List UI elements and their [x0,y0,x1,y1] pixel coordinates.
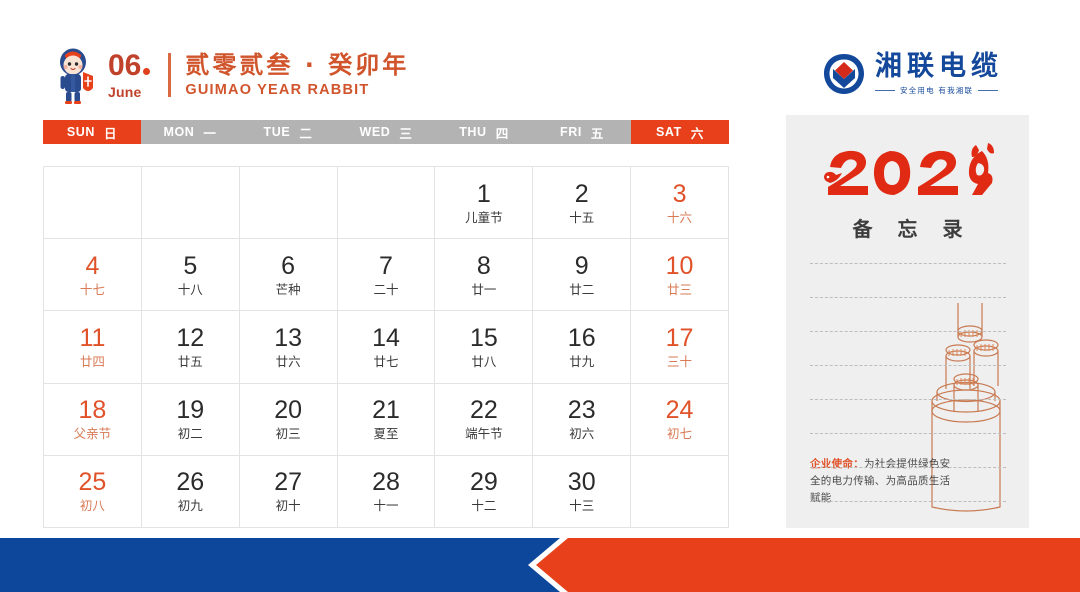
weekday-label-cn: 三 [399,123,412,142]
calendar-day-cell[interactable]: 22端午节 [435,384,533,456]
calendar-day-cell[interactable]: 5十八 [142,239,240,311]
calendar-day-cell[interactable]: 26初九 [142,456,240,528]
calendar-day-cell[interactable]: 18父亲节 [44,384,142,456]
day-number: 7 [379,252,393,280]
lunar-year-group: 贰零贰叁 · 癸卯年 GUIMAO YEAR RABBIT [185,52,409,99]
memo-note-line[interactable] [810,399,1006,400]
weekday-header-sat: SAT六 [631,120,729,144]
day-lunar-label: 父亲节 [74,426,112,442]
day-lunar-label: 初七 [667,426,692,442]
weekday-label-en: SUN [67,125,95,139]
day-number: 16 [568,324,596,352]
mascot-figure-icon [52,46,98,104]
memo-note-line[interactable] [810,263,1006,264]
day-number: 21 [372,396,400,424]
day-number: 29 [470,468,498,496]
day-number: 4 [85,252,99,280]
calendar-day-cell[interactable]: 29十二 [435,456,533,528]
calendar-day-cell[interactable]: 12廿五 [142,311,240,383]
weekday-header-sun: SUN日 [43,120,141,144]
day-number: 28 [372,468,400,496]
weekday-label-cn: 二 [299,123,312,142]
banner-orange-shape [536,538,1080,592]
weekday-label-en: SAT [656,125,682,139]
mission-label: 企业使命： [810,458,864,470]
company-name: 湘联电缆 [875,52,1003,82]
day-number: 27 [274,468,302,496]
day-number: 30 [568,468,596,496]
day-lunar-label: 廿六 [276,354,301,370]
company-logo: 湘联电缆 安全用电 有我湘联 [822,52,1003,96]
day-number: 3 [673,180,687,208]
day-lunar-label: 端午节 [465,426,503,442]
day-number: 1 [477,180,491,208]
calendar-day-cell[interactable]: 4十七 [44,239,142,311]
tagline-rule-right [978,90,998,91]
day-lunar-label: 廿四 [80,354,105,370]
memo-note-line[interactable] [810,467,1006,468]
calendar-empty-cell [631,456,729,528]
calendar-day-cell[interactable]: 28十一 [338,456,436,528]
weekday-header-mon: MON一 [141,120,239,144]
calendar-day-cell[interactable]: 9廿二 [533,239,631,311]
month-dot-icon [143,68,150,75]
day-lunar-label: 廿一 [471,282,496,298]
weekday-label-cn: 一 [203,123,216,142]
day-lunar-label: 十一 [373,498,398,514]
day-number: 13 [274,324,302,352]
calendar-grid: 1儿童节2十五3十六4十七5十八6芒种7二十8廿一9廿二10廿三11廿四12廿五… [43,166,729,528]
calendar-day-cell[interactable]: 21夏至 [338,384,436,456]
day-number: 5 [183,252,197,280]
day-lunar-label: 廿二 [569,282,594,298]
calendar-day-cell[interactable]: 6芒种 [240,239,338,311]
page-header: 06 June 贰零贰叁 · 癸卯年 GUIMAO YEAR RABBIT 湘联… [0,0,1080,118]
calendar-day-cell[interactable]: 3十六 [631,167,729,239]
day-lunar-label: 初八 [80,498,105,514]
memo-panel: 备 忘 录 [786,115,1029,528]
day-number: 9 [575,252,589,280]
day-lunar-label: 廿七 [373,354,398,370]
day-number: 6 [281,252,295,280]
day-number: 12 [176,324,204,352]
calendar-day-cell[interactable]: 16廿九 [533,311,631,383]
calendar-day-cell[interactable]: 11廿四 [44,311,142,383]
calendar-day-cell[interactable]: 15廿八 [435,311,533,383]
company-shield-logo-icon [822,52,866,96]
bottom-banner [0,538,1080,592]
day-lunar-label: 初六 [569,426,594,442]
day-number: 18 [79,396,107,424]
day-lunar-label: 十二 [471,498,496,514]
day-number: 26 [176,468,204,496]
weekday-label-en: FRI [560,125,582,139]
day-lunar-label: 十八 [178,282,203,298]
day-lunar-label: 十七 [80,282,105,298]
day-number: 23 [568,396,596,424]
day-lunar-label: 廿三 [667,282,692,298]
tagline-rule-left [875,90,895,91]
memo-note-line[interactable] [810,331,1006,332]
month-number: 06 [108,49,141,82]
day-number: 19 [176,396,204,424]
day-lunar-label: 十五 [569,210,594,226]
weekday-label-en: THU [459,125,487,139]
day-lunar-label: 十六 [667,210,692,226]
calendar-empty-cell [240,167,338,239]
month-number-line: 06 [108,51,150,81]
company-tagline-row: 安全用电 有我湘联 [875,85,1003,96]
memo-note-line[interactable] [810,297,1006,298]
lunar-year-en: GUIMAO YEAR RABBIT [185,81,409,99]
calendar-day-cell[interactable]: 14廿七 [338,311,436,383]
calendar-day-cell[interactable]: 25初八 [44,456,142,528]
weekday-label-en: TUE [264,125,291,139]
day-number: 24 [666,396,694,424]
calendar-empty-cell [142,167,240,239]
day-lunar-label: 二十 [373,282,398,298]
day-number: 25 [79,468,107,496]
month-name-en: June [108,84,150,100]
weekday-label-en: WED [359,125,390,139]
day-number: 2 [575,180,589,208]
calendar-day-cell[interactable]: 17三十 [631,311,729,383]
calendar-empty-cell [338,167,436,239]
calendar-day-cell[interactable]: 10廿三 [631,239,729,311]
calendar-empty-cell [44,167,142,239]
weekday-label-cn: 四 [496,123,509,142]
calendar-day-cell[interactable]: 7二十 [338,239,436,311]
memo-note-line[interactable] [810,501,1006,502]
day-lunar-label: 儿童节 [465,210,503,226]
day-lunar-label: 初十 [276,498,301,514]
weekday-label-cn: 日 [104,123,117,142]
day-lunar-label: 初二 [178,426,203,442]
memo-year-artwork [786,137,1029,208]
day-lunar-label: 初三 [276,426,301,442]
day-lunar-label: 十三 [569,498,594,514]
memo-note-line[interactable] [810,365,1006,366]
day-lunar-label: 廿九 [569,354,594,370]
calendar-day-cell[interactable]: 20初三 [240,384,338,456]
day-number: 11 [79,324,105,352]
calendar-day-cell[interactable]: 8廿一 [435,239,533,311]
calendar-day-cell[interactable]: 13廿六 [240,311,338,383]
banner-blue-shape [0,538,560,592]
day-number: 15 [470,324,498,352]
calendar-day-cell[interactable]: 30十三 [533,456,631,528]
weekday-label-cn: 五 [591,123,604,142]
day-lunar-label: 初九 [178,498,203,514]
weekday-header-bar: SUN日MON一TUE二WED三THU四FRI五SAT六 [43,120,729,144]
calendar-day-cell[interactable]: 1儿童节 [435,167,533,239]
weekday-label-cn: 六 [691,123,704,142]
day-lunar-label: 夏至 [373,426,398,442]
day-lunar-label: 廿八 [471,354,496,370]
header-divider [168,53,171,97]
month-title-block: 06 June 贰零贰叁 · 癸卯年 GUIMAO YEAR RABBIT [52,46,409,104]
weekday-header-tue: TUE二 [239,120,337,144]
day-number: 22 [470,396,498,424]
month-number-group: 06 June [108,51,150,100]
day-number: 17 [666,324,694,352]
weekday-header-thu: THU四 [435,120,533,144]
day-number: 10 [666,252,694,280]
memo-title: 备 忘 录 [786,213,1029,242]
calendar-day-cell[interactable]: 27初十 [240,456,338,528]
calendar-day-cell[interactable]: 19初二 [142,384,240,456]
weekday-label-en: MON [163,125,194,139]
day-lunar-label: 芒种 [276,282,301,298]
weekday-header-fri: FRI五 [533,120,631,144]
day-lunar-label: 廿五 [178,354,203,370]
day-number: 8 [477,252,491,280]
memo-note-line[interactable] [810,433,1006,434]
company-mission-text: 企业使命：为社会提供绿色安全的电力传输、为高品质生活赋能 [810,456,960,507]
day-number: 20 [274,396,302,424]
day-lunar-label: 三十 [667,354,692,370]
calendar-day-cell[interactable]: 2十五 [533,167,631,239]
company-logo-text: 湘联电缆 安全用电 有我湘联 [875,52,1003,96]
day-number: 14 [372,324,400,352]
weekday-header-wed: WED三 [337,120,435,144]
lunar-year-cn: 贰零贰叁 · 癸卯年 [185,52,409,78]
company-tagline: 安全用电 有我湘联 [900,85,973,96]
calendar-day-cell[interactable]: 23初六 [533,384,631,456]
calendar-day-cell[interactable]: 24初七 [631,384,729,456]
